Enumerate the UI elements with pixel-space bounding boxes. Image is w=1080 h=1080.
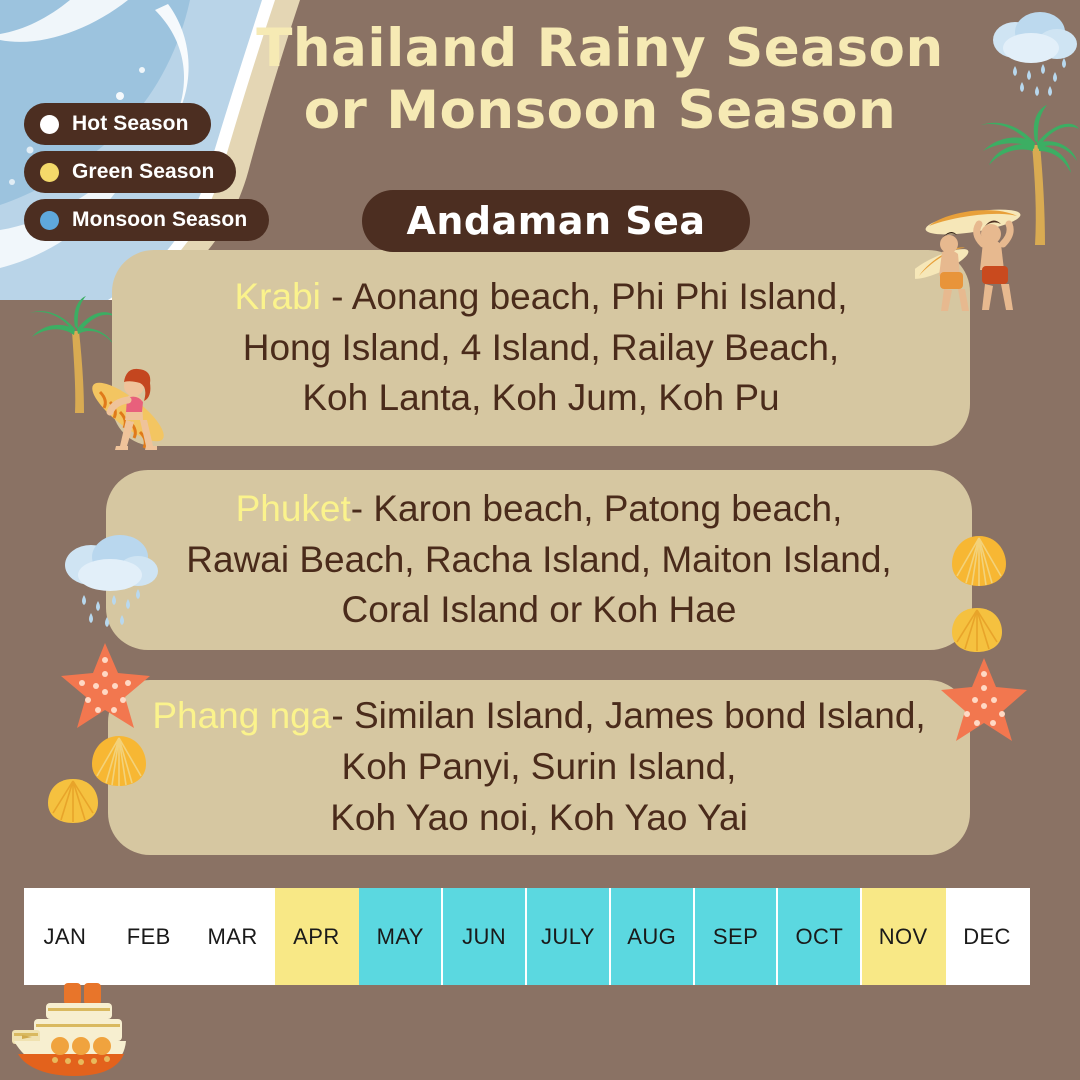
month-cell-jun[interactable]: JUN xyxy=(443,888,527,985)
legend-label: Green Season xyxy=(72,160,214,184)
month-label: OCT xyxy=(796,924,844,950)
legend-item-hot-season[interactable]: Hot Season xyxy=(24,103,211,145)
separator: - xyxy=(321,276,352,317)
place-name: Phang nga xyxy=(152,695,331,736)
month-label: NOV xyxy=(879,924,928,950)
card-text: Phuket- Karon beach, Patong beach, Rawai… xyxy=(186,484,891,636)
month-cell-dec[interactable]: DEC xyxy=(946,888,1030,985)
destination-card-phang-nga: Phang nga- Similan Island, James bond Is… xyxy=(108,680,970,855)
circle-dot-icon xyxy=(40,211,59,230)
month-label: AUG xyxy=(627,924,676,950)
month-label: JAN xyxy=(44,924,87,950)
month-label: APR xyxy=(293,924,339,950)
place-name: Krabi xyxy=(235,276,321,317)
separator: - xyxy=(331,695,354,736)
title-line-1: Thailand Rainy Season xyxy=(250,18,950,80)
title-line-2: or Monsoon Season xyxy=(250,80,950,142)
circle-dot-icon xyxy=(40,115,59,134)
infographic-canvas: Hot Season Green Season Monsoon Season T… xyxy=(0,0,1080,1080)
palm-tree-icon xyxy=(975,103,1080,253)
month-label: SEP xyxy=(713,924,758,950)
legend-label: Monsoon Season xyxy=(72,208,247,232)
card-line-3: Koh Yao noi, Koh Yao Yai xyxy=(330,797,748,838)
card-text: Phang nga- Similan Island, James bond Is… xyxy=(152,691,925,843)
card-line-1: Aonang beach, Phi Phi Island, xyxy=(352,276,848,317)
card-line-1: Karon beach, Patong beach, xyxy=(373,488,842,529)
season-legend: Hot Season Green Season Monsoon Season xyxy=(24,103,269,247)
month-cell-feb[interactable]: FEB xyxy=(108,888,192,985)
destination-card-phuket: Phuket- Karon beach, Patong beach, Rawai… xyxy=(106,470,972,650)
card-line-2: Koh Panyi, Surin Island, xyxy=(342,746,737,787)
card-line-2: Rawai Beach, Racha Island, Maiton Island… xyxy=(186,539,891,580)
region-badge-label: Andaman Sea xyxy=(406,199,705,243)
page-title: Thailand Rainy Season or Monsoon Season xyxy=(250,18,950,142)
card-line-3: Coral Island or Koh Hae xyxy=(342,589,737,630)
month-cell-nov[interactable]: NOV xyxy=(862,888,946,985)
card-line-3: Koh Lanta, Koh Jum, Koh Pu xyxy=(302,377,779,418)
month-cell-oct[interactable]: OCT xyxy=(778,888,862,985)
legend-item-green-season[interactable]: Green Season xyxy=(24,151,236,193)
palm-tree-icon xyxy=(28,295,123,420)
month-cell-mar[interactable]: MAR xyxy=(192,888,276,985)
season-timeline: JANFEBMARAPRMAYJUNJULYAUGSEPOCTNOVDEC xyxy=(24,888,1030,985)
month-cell-apr[interactable]: APR xyxy=(275,888,359,985)
legend-label: Hot Season xyxy=(72,112,189,136)
rain-cloud-icon xyxy=(985,8,1080,98)
month-cell-sep[interactable]: SEP xyxy=(695,888,779,985)
cruise-ship-icon xyxy=(8,978,138,1080)
card-line-1: Similan Island, James bond Island, xyxy=(354,695,926,736)
place-name: Phuket xyxy=(236,488,351,529)
destination-card-krabi: Krabi - Aonang beach, Phi Phi Island, Ho… xyxy=(112,250,970,446)
month-label: JULY xyxy=(541,924,595,950)
region-badge-andaman-sea: Andaman Sea xyxy=(362,190,750,252)
month-cell-jan[interactable]: JAN xyxy=(24,888,108,985)
separator: - xyxy=(351,488,374,529)
month-label: JUN xyxy=(462,924,506,950)
circle-dot-icon xyxy=(40,163,59,182)
month-label: MAY xyxy=(377,924,424,950)
month-label: DEC xyxy=(963,924,1011,950)
month-cell-aug[interactable]: AUG xyxy=(611,888,695,985)
card-line-2: Hong Island, 4 Island, Railay Beach, xyxy=(243,327,839,368)
month-cell-may[interactable]: MAY xyxy=(359,888,443,985)
month-label: MAR xyxy=(208,924,258,950)
seashell-icon xyxy=(44,775,102,827)
legend-item-monsoon-season[interactable]: Monsoon Season xyxy=(24,199,269,241)
month-cell-july[interactable]: JULY xyxy=(527,888,611,985)
month-label: FEB xyxy=(127,924,171,950)
card-text: Krabi - Aonang beach, Phi Phi Island, Ho… xyxy=(235,272,848,424)
